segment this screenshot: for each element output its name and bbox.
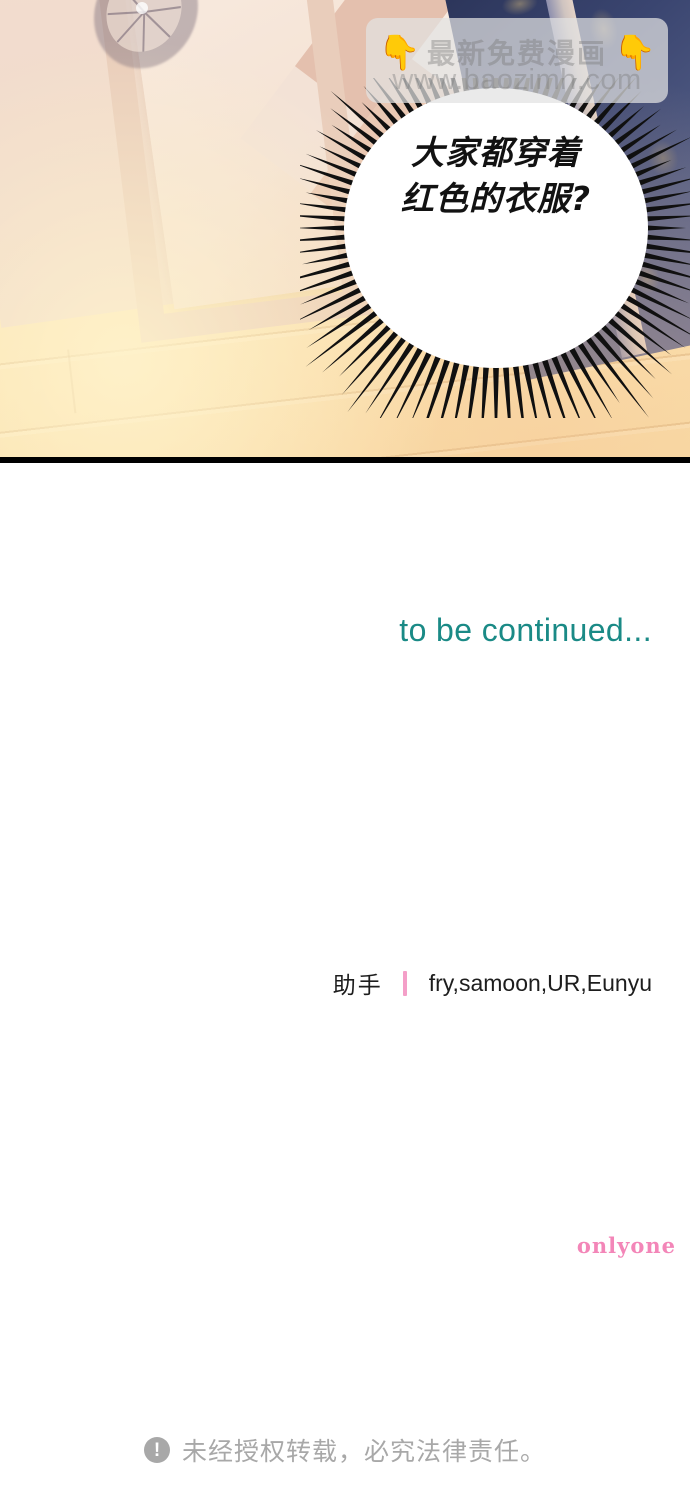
pointing-down-hand-icon: 👇 [614,36,656,70]
exclamation-icon: ! [144,1437,170,1463]
credit-divider [403,971,407,996]
exclamation-glyph: ! [154,1441,160,1460]
speech-bubble-text: 大家都穿着 红色的衣服? [300,130,690,222]
brand-logo: onlyone [0,1233,676,1258]
credits-line: 助手 fry,samoon,UR,Eunyu [0,966,652,1000]
to-be-continued-text: to be continued... [0,612,652,649]
footer-notice-text: 未经授权转载，必究法律责任。 [182,1432,546,1468]
footer-copyright-notice: ! 未经授权转载，必究法律责任。 [0,1432,690,1468]
speech-line-1: 大家都穿着 [300,130,690,176]
watermark-overlay: 最新免费漫画 www.baozimh.com 👇 👇 [366,18,668,103]
pointing-down-hand-icon: 👇 [378,36,420,70]
credit-names-value: fry,samoon,UR,Eunyu [429,970,652,997]
speech-line-2: 红色的衣服? [300,176,690,222]
comic-panel: 大家都穿着 红色的衣服? 最新免费漫画 www.baozimh.com 👇 👇 [0,0,690,463]
credit-role-label: 助手 [333,966,383,1000]
burst-shape-svg [300,78,690,418]
panel-bottom-border [0,457,690,463]
speech-bubble-burst: 大家都穿着 红色的衣服? [300,78,690,418]
